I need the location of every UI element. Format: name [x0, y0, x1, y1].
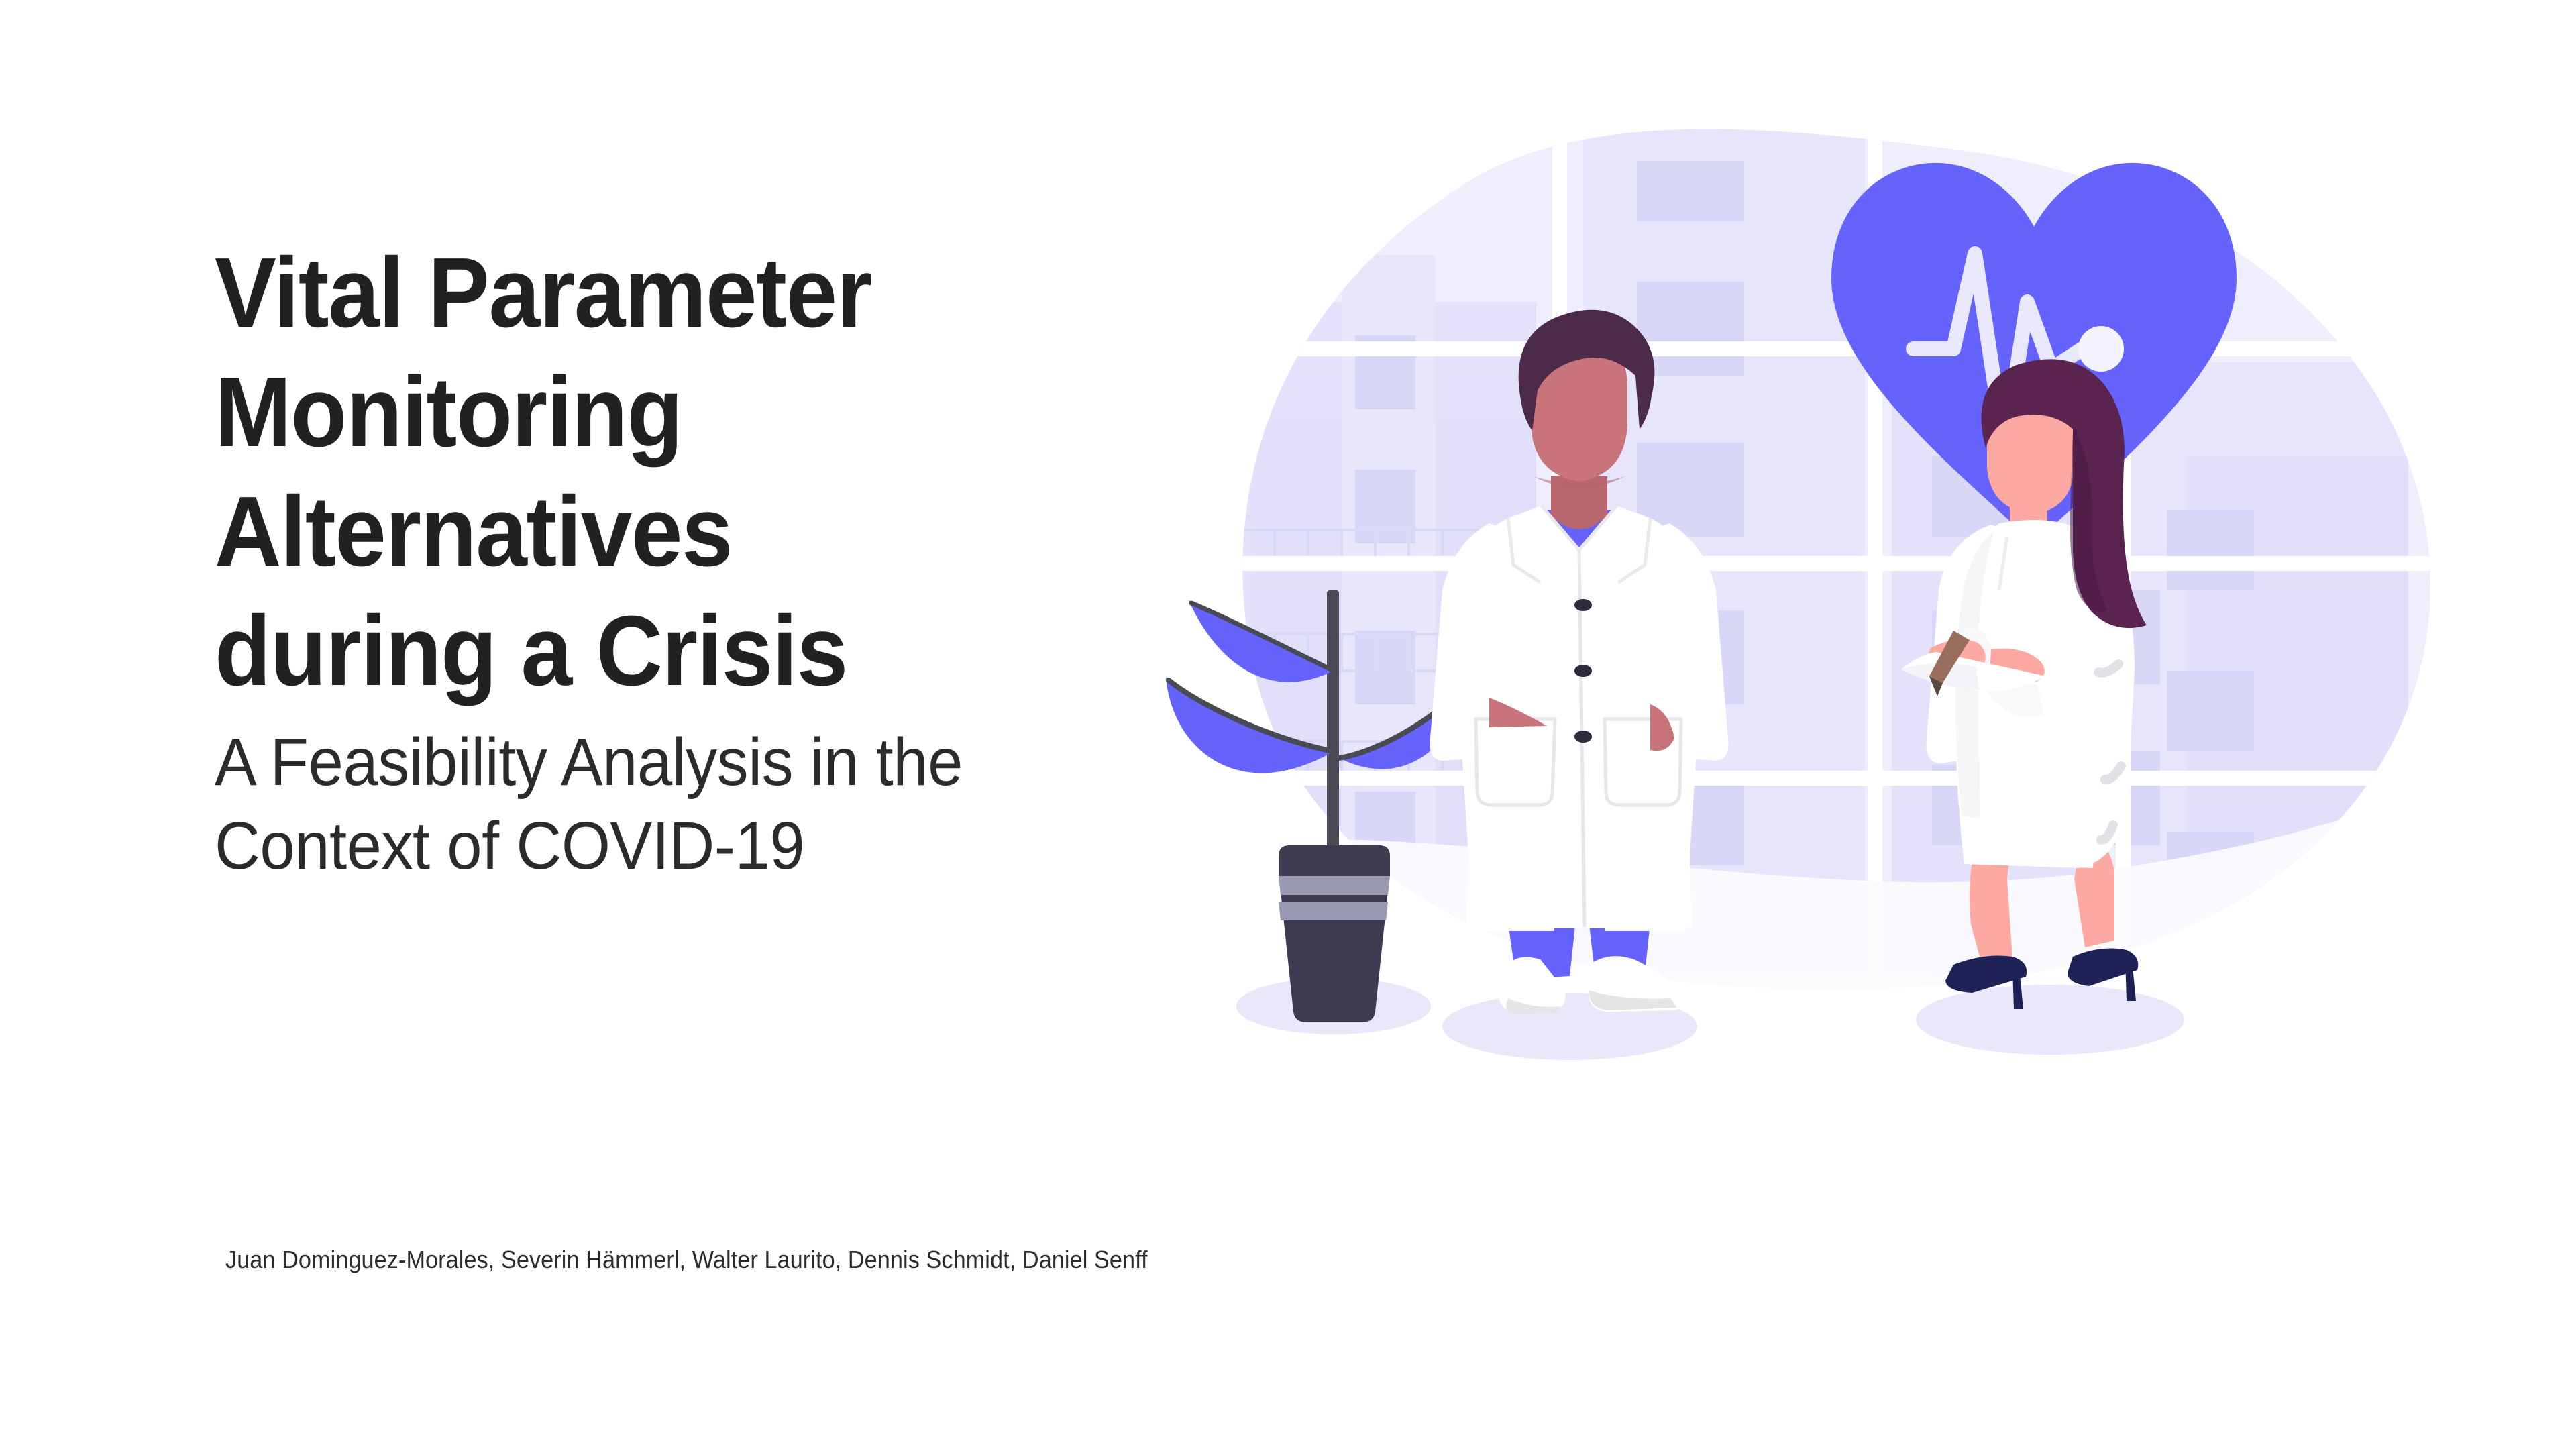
floor-shadows [1236, 978, 2184, 1060]
plant-pot [1279, 845, 1390, 1022]
title-block: Vital Parameter Monitoring Alternatives … [215, 233, 1167, 888]
ecg-endpoint-dot [2078, 326, 2124, 372]
title-slide: Vital Parameter Monitoring Alternatives … [0, 0, 2576, 1449]
coat-button [1574, 665, 1592, 677]
medical-team-illustration [1140, 80, 2482, 1073]
authors-line: Juan Dominguez-Morales, Severin Hämmerl,… [225, 1244, 1148, 1275]
page-title: Vital Parameter Monitoring Alternatives … [215, 233, 1101, 711]
coat-button [1574, 731, 1592, 743]
coat-button [1574, 599, 1592, 611]
page-subtitle: A Feasibility Analysis in the Context of… [215, 720, 1110, 888]
